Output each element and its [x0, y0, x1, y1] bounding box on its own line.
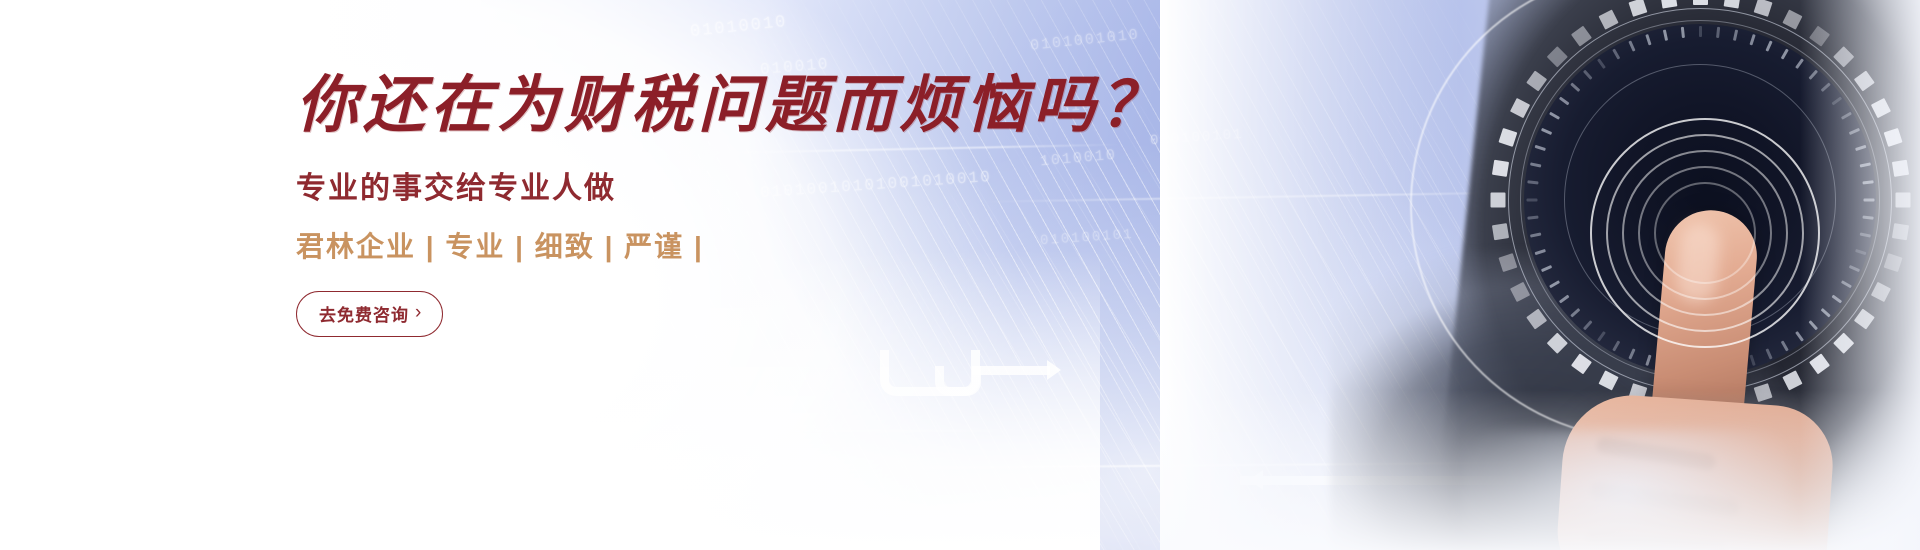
cta-label: 去免费咨询 — [319, 301, 409, 326]
fingertip-glow-rings — [1590, 118, 1820, 348]
hero-banner: 01010010 0101001010 010010 01010 1010010… — [0, 0, 1920, 550]
banner-tagline: 君林企业 | 专业 | 细致 | 严谨 | — [296, 225, 1056, 265]
banner-subheadline: 专业的事交给专业人做 — [296, 163, 1056, 207]
chevron-right-icon: › — [415, 303, 422, 322]
free-consultation-button[interactable]: 去免费咨询 › — [296, 291, 443, 337]
right-edge-fade — [1800, 0, 1920, 550]
cta-row: 去免费咨询 › — [296, 291, 1056, 337]
banner-copy: 你还在为财税问题而烦恼吗？ 专业的事交给专业人做 君林企业 | 专业 | 细致 … — [296, 72, 1056, 337]
banner-headline: 你还在为财税问题而烦恼吗？ — [296, 72, 1056, 137]
